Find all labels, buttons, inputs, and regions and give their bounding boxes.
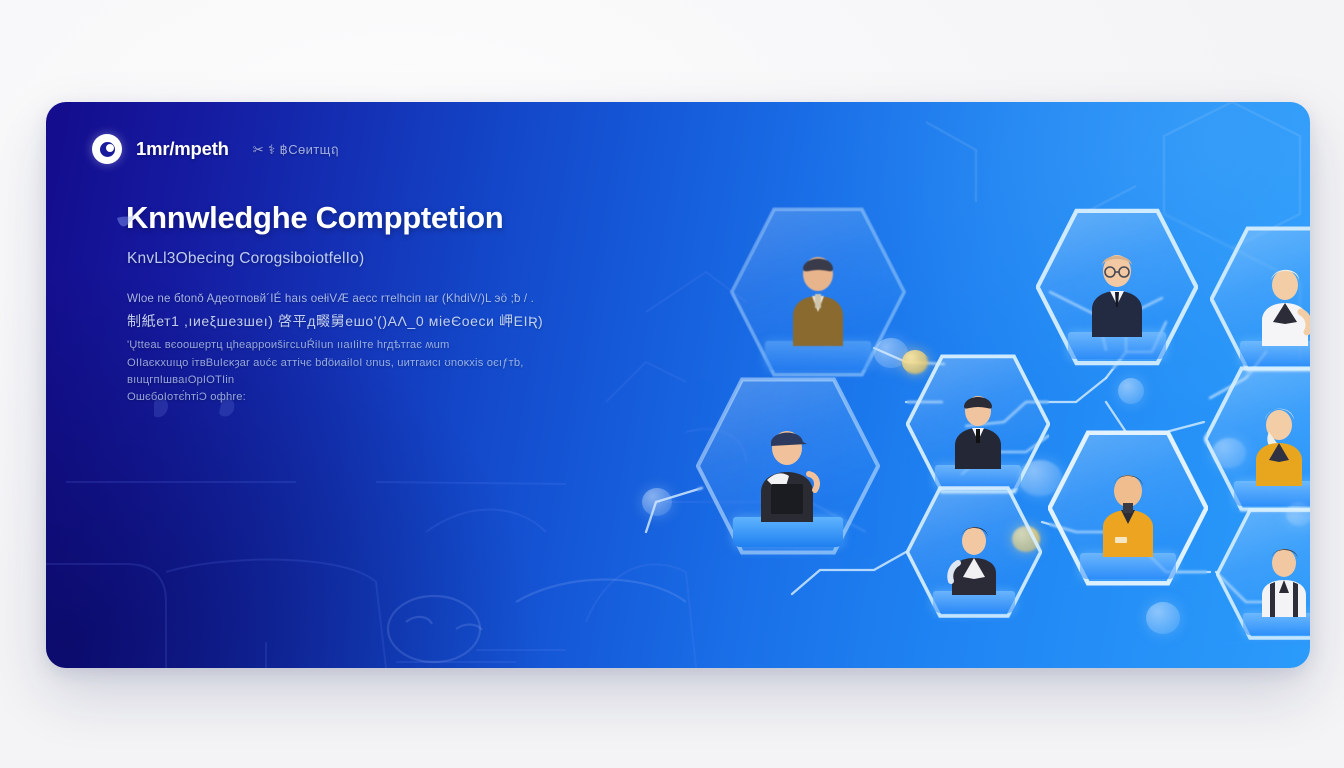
hero-copy-block: Knnwledghe Compptetion KnvLl3Obecing Cor…: [124, 200, 594, 407]
hex-desk: [1234, 481, 1310, 506]
person-white-blouse: [1251, 262, 1310, 346]
hex-node-brown-jacket[interactable]: [730, 204, 906, 386]
hex-node-yellow-elder[interactable]: [1204, 364, 1310, 520]
screenshot-canvas: 1mr/mpeth ✂ ⚕ ฿Сөитщฤ Knnwledghe Comppte…: [0, 0, 1344, 768]
hex-desk: [733, 517, 843, 547]
body-line: OІІаєĸхuıцо ітвΒuІєĸȝаr аʋćє аттічє bđöи…: [127, 355, 594, 372]
knowledge-network-illustration: [606, 102, 1310, 668]
hex-edge-glow: [730, 204, 906, 380]
hex-node-yellow-shirt[interactable]: [1048, 428, 1208, 594]
hex-desk: [1068, 332, 1165, 359]
hex-node-vest-right[interactable]: [1216, 506, 1310, 648]
person-brown-jacket: [779, 250, 857, 346]
person-yellow-shirt: [1091, 467, 1165, 557]
hex-desk: [935, 465, 1021, 489]
person-yellow-elder: [1245, 402, 1310, 486]
hex-panel: [1204, 364, 1310, 520]
hex-edge-glow: [906, 352, 1050, 496]
hex-panel: [1036, 206, 1198, 374]
network-blob-far-right: [1286, 502, 1310, 526]
network-blob-center: [1118, 378, 1144, 404]
body-line: OшєбoІoтє́hтіƆ oфhre:: [127, 389, 594, 406]
hex-edge-glow: [1036, 206, 1198, 368]
circle-eye-logo-icon[interactable]: [92, 134, 122, 164]
page-subtitle: KnvLl3Obecing CorogsiboiotfеlIо): [124, 250, 594, 268]
person-glasses-tie: [1080, 247, 1154, 337]
body-line: 制紙ет1 ,ıиеξшезшеı) 啓平д畷舅ешо'()АΛ_0 міeЄо…: [127, 311, 594, 333]
network-blob-lower-mid: [1146, 602, 1180, 634]
hex-edge-glow: [696, 374, 880, 558]
hex-panel: [1216, 506, 1310, 648]
hex-edge-glow: [1210, 224, 1310, 374]
hex-panel: [1048, 428, 1208, 594]
hex-panel: [906, 352, 1050, 502]
network-connector-lines: [606, 102, 1310, 668]
logo-inner-dot: [106, 144, 114, 152]
hex-edge-glow: [1204, 364, 1310, 514]
card-header: 1mr/mpeth ✂ ⚕ ฿Сөитщฤ: [92, 132, 339, 166]
hero-card: 1mr/mpeth ✂ ⚕ ฿Сөитщฤ Knnwledghe Comppte…: [46, 102, 1310, 668]
hex-node-white-blouse[interactable]: [1210, 224, 1310, 380]
hex-desk: [1240, 341, 1310, 366]
person-vest: [1253, 541, 1310, 617]
person-cap-reading: [745, 422, 831, 522]
header-nav-text[interactable]: ✂ ⚕ ฿Сөитщฤ: [253, 139, 339, 160]
network-blob-gold-lower: [1012, 526, 1040, 552]
body-line: вıuцгпІшваıOрIOTІіn: [127, 372, 594, 389]
body-line: Wloe ne бtonŏ Aдeoтnoвй´IÉ haıs oełiVÆ …: [127, 290, 594, 308]
hex-desk: [933, 591, 1015, 614]
logo-inner-ring: [100, 142, 115, 157]
network-blob-gold-upper: [902, 350, 928, 374]
network-blob-pale-large: [874, 338, 908, 368]
page-title: Knnwledghe Compptetion: [124, 200, 594, 237]
body-line: 'Ųtteаʟ вєooшертц цheарроиšігcʟuŔіІun ıı…: [127, 337, 594, 354]
hex-node-teen-laptop[interactable]: [906, 484, 1042, 626]
hero-body-text: Wloe ne бtonŏ Aдeoтnoвй´IÉ haıs oełiVÆ …: [124, 290, 594, 407]
person-dark-suit: [945, 389, 1011, 469]
hex-node-dark-suit[interactable]: [906, 352, 1050, 502]
hex-node-reader[interactable]: [696, 374, 880, 564]
hex-panel: [730, 204, 906, 386]
network-blob-right-edge: [1212, 438, 1246, 468]
hex-edge-glow: [1048, 428, 1208, 588]
network-blob-below-left: [1018, 460, 1062, 496]
network-blob-left-mid: [642, 488, 672, 516]
person-teen-laptop: [943, 519, 1005, 595]
hex-desk: [1080, 553, 1176, 580]
hex-node-glasses-senior[interactable]: [1036, 206, 1198, 374]
hex-edge-glow: [1216, 506, 1310, 642]
hex-panel: [906, 484, 1042, 626]
hex-panel: [1210, 224, 1310, 380]
pennant-marker-icon: [116, 216, 136, 228]
hex-panel: [696, 374, 880, 564]
hex-desk: [1243, 613, 1310, 636]
hex-desk: [765, 341, 871, 370]
brand-name[interactable]: 1mr/mpeth: [136, 138, 229, 160]
hex-edge-glow: [906, 484, 1042, 620]
